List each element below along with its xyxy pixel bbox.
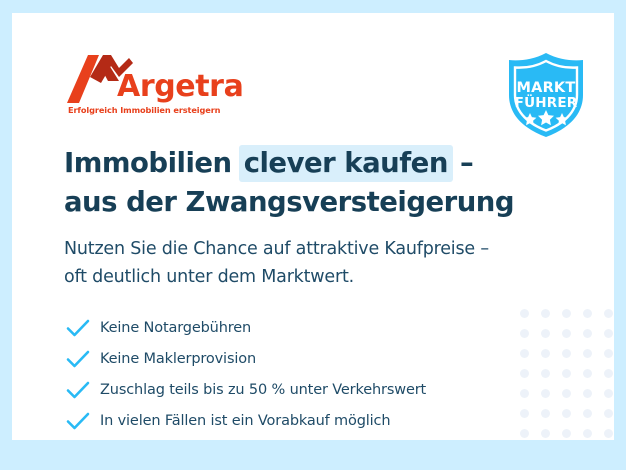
headline-highlight: clever kaufen [239, 145, 453, 182]
decorative-dot [604, 309, 613, 318]
list-item-label: Keine Maklerprovision [100, 351, 256, 367]
decorative-dot [604, 349, 613, 358]
check-icon [66, 380, 91, 400]
logo-wordmark: Argetra [117, 72, 243, 102]
decorative-dot [604, 409, 613, 418]
subheading-line1: Nutzen Sie die Chance auf attraktive Kau… [64, 235, 584, 263]
decorative-dot [583, 389, 592, 398]
decorative-dot [583, 409, 592, 418]
decorative-dot [541, 429, 550, 438]
list-item: In vielen Fällen ist ein Vorabkauf mögli… [66, 405, 536, 436]
decorative-dot [604, 369, 613, 378]
headline-line2: aus der Zwangsversteigerung [64, 184, 584, 220]
decorative-dot [562, 329, 571, 338]
decorative-dot [604, 389, 613, 398]
decorative-dot [541, 389, 550, 398]
list-item-label: In vielen Fällen ist ein Vorabkauf mögli… [100, 413, 390, 429]
page-headline: Immobilien clever kaufen – aus der Zwang… [64, 145, 584, 220]
list-item-label: Zuschlag teils bis zu 50 % unter Verkehr… [100, 382, 426, 398]
promo-card: Argetra Erfolgreich Immobilien ersteiger… [12, 13, 614, 440]
argetra-logo: Argetra Erfolgreich Immobilien ersteiger… [67, 55, 247, 117]
decorative-dot [583, 309, 592, 318]
badge-line1-text: MARKT [517, 80, 576, 96]
list-item: Zuschlag teils bis zu 50 % unter Verkehr… [66, 374, 536, 405]
decorative-dot [604, 329, 613, 338]
decorative-dot [541, 349, 550, 358]
list-item: Keine Maklerprovision [66, 343, 536, 374]
decorative-dot [583, 429, 592, 438]
page-frame: Argetra Erfolgreich Immobilien ersteiger… [0, 0, 626, 470]
decorative-dot [541, 309, 550, 318]
page-subheading: Nutzen Sie die Chance auf attraktive Kau… [64, 235, 584, 291]
benefits-checklist: Keine Notargebühren Keine Maklerprovisio… [66, 312, 536, 436]
headline-part1: Immobilien [64, 147, 241, 179]
list-item: Keine Notargebühren [66, 312, 536, 343]
logo-tagline: Erfolgreich Immobilien ersteigern [68, 105, 220, 115]
badge-line2-text: FÜHRER [515, 93, 578, 111]
decorative-dot [541, 409, 550, 418]
decorative-dot [583, 349, 592, 358]
subheading-line2: oft deutlich unter dem Marktwert. [64, 263, 584, 291]
check-icon [66, 349, 91, 369]
check-icon [66, 318, 91, 338]
decorative-dot [604, 429, 613, 438]
list-item-label: Keine Notargebühren [100, 320, 251, 336]
decorative-dot [583, 329, 592, 338]
decorative-dot [562, 309, 571, 318]
decorative-dot [583, 369, 592, 378]
decorative-dot [562, 349, 571, 358]
decorative-dot [541, 329, 550, 338]
decorative-dot [562, 409, 571, 418]
decorative-dot [562, 369, 571, 378]
check-icon [66, 411, 91, 431]
shield-badge-icon: MARKT FÜHRER [503, 51, 589, 139]
decorative-dot [562, 429, 571, 438]
decorative-dot [541, 369, 550, 378]
decorative-dot [562, 389, 571, 398]
market-leader-badge: MARKT FÜHRER [503, 51, 589, 139]
headline-part2: – [451, 147, 473, 179]
